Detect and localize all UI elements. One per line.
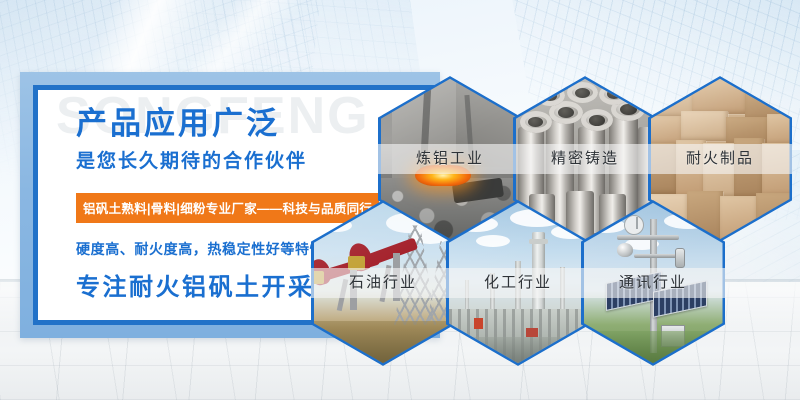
hex-label: 耐火制品 bbox=[648, 144, 792, 174]
hex-label: 炼铝工业 bbox=[378, 144, 522, 174]
hexagon-gallery: 炼铝工业 bbox=[0, 0, 800, 400]
hex-label: 化工行业 bbox=[446, 268, 590, 298]
hex-label: 精密铸造 bbox=[513, 144, 657, 174]
banner-stage: SONGFENG 产品应用广泛 是您长久期待的合作伙伴 铝矾土熟料|骨料|细粉专… bbox=[0, 0, 800, 400]
hex-label: 石油行业 bbox=[311, 268, 455, 298]
hex-label: 通讯行业 bbox=[581, 268, 725, 298]
